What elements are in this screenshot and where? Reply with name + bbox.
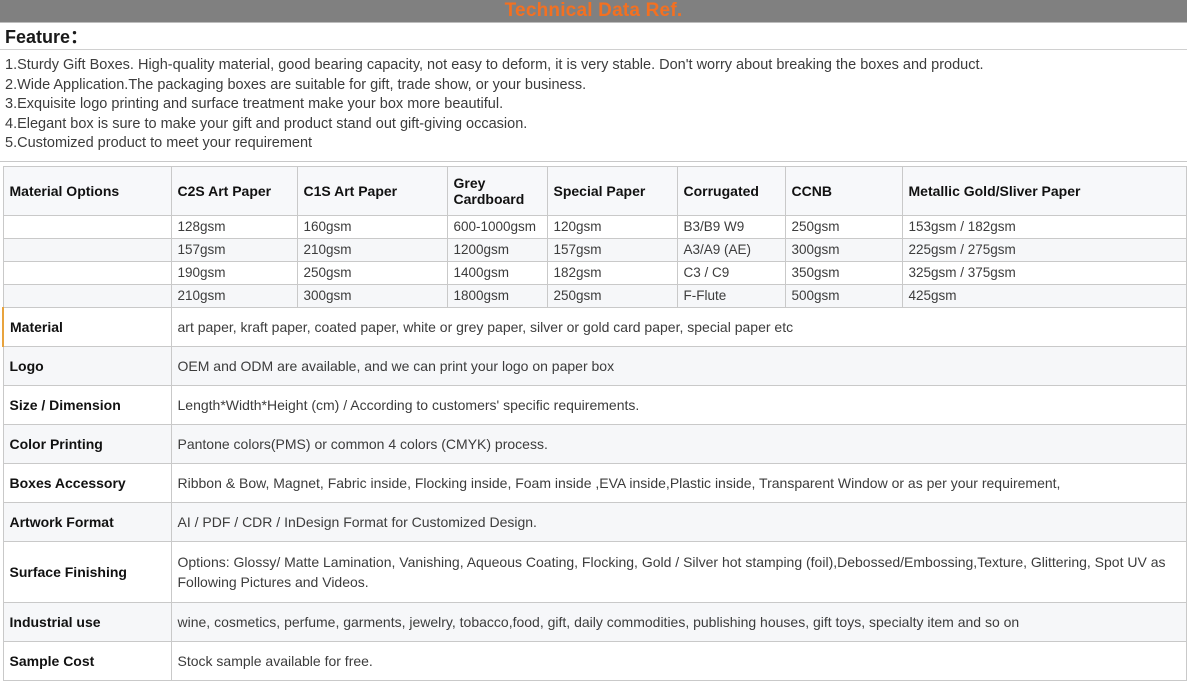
table-header-row: Material Options C2S Art Paper C1S Art P… xyxy=(3,166,1186,215)
column-header-special-paper: Special Paper xyxy=(547,166,677,215)
cell-metallic: 225gsm / 275gsm xyxy=(902,238,1186,261)
cell-c2s: 157gsm xyxy=(171,238,297,261)
row-label-artwork-format: Artwork Format xyxy=(3,502,171,541)
cell-corrugated: A3/A9 (AE) xyxy=(677,238,785,261)
cell-ccnb: 500gsm xyxy=(785,284,902,307)
cell-special: 182gsm xyxy=(547,261,677,284)
cell-grey: 600-1000gsm xyxy=(447,215,547,238)
table-row-size-dimension: Size / Dimension Length*Width*Height (cm… xyxy=(3,385,1186,424)
row-value-sample-cost: Stock sample available for free. xyxy=(171,641,1186,680)
cell-c2s: 128gsm xyxy=(171,215,297,238)
row-label-material: Material xyxy=(3,307,171,346)
row-label-size-dimension: Size / Dimension xyxy=(3,385,171,424)
table-row-logo: Logo OEM and ODM are available, and we c… xyxy=(3,346,1186,385)
table-row: 128gsm 160gsm 600-1000gsm 120gsm B3/B9 W… xyxy=(3,215,1186,238)
cell-c1s: 300gsm xyxy=(297,284,447,307)
row-label-boxes-accessory: Boxes Accessory xyxy=(3,463,171,502)
row-value-surface-finishing: Options: Glossy/ Matte Lamination, Vanis… xyxy=(171,541,1186,602)
table-row-boxes-accessory: Boxes Accessory Ribbon & Bow, Magnet, Fa… xyxy=(3,463,1186,502)
cell-metallic: 325gsm / 375gsm xyxy=(902,261,1186,284)
row-label-sample-cost: Sample Cost xyxy=(3,641,171,680)
table-row-industrial-use: Industrial use wine, cosmetics, perfume,… xyxy=(3,602,1186,641)
column-header-metallic-gold-sliver-paper: Metallic Gold/Sliver Paper xyxy=(902,166,1186,215)
column-header-c2s-art-paper: C2S Art Paper xyxy=(171,166,297,215)
title-bar: Technical Data Ref. xyxy=(0,0,1187,23)
row-value-boxes-accessory: Ribbon & Bow, Magnet, Fabric inside, Flo… xyxy=(171,463,1186,502)
cell-corrugated: F-Flute xyxy=(677,284,785,307)
cell-c2s: 190gsm xyxy=(171,261,297,284)
feature-list: 1.Sturdy Gift Boxes. High-quality materi… xyxy=(0,50,1187,162)
table-row: 190gsm 250gsm 1400gsm 182gsm C3 / C9 350… xyxy=(3,261,1186,284)
technical-data-sheet: Technical Data Ref. Feature： 1.Sturdy Gi… xyxy=(0,0,1187,620)
table-row-surface-finishing: Surface Finishing Options: Glossy/ Matte… xyxy=(3,541,1186,602)
feature-line: 1.Sturdy Gift Boxes. High-quality materi… xyxy=(5,56,1187,76)
cell-material-options xyxy=(3,238,171,261)
column-header-material-options: Material Options xyxy=(3,166,171,215)
cell-grey: 1800gsm xyxy=(447,284,547,307)
table-header: Material Options C2S Art Paper C1S Art P… xyxy=(3,166,1186,215)
row-value-artwork-format: AI / PDF / CDR / InDesign Format for Cus… xyxy=(171,502,1186,541)
feature-heading: Feature： xyxy=(0,23,1187,50)
feature-line: 3.Exquisite logo printing and surface tr… xyxy=(5,95,1187,115)
feature-line: 5.Customized product to meet your requir… xyxy=(5,134,1187,154)
cell-metallic: 153gsm / 182gsm xyxy=(902,215,1186,238)
table-row-color-printing: Color Printing Pantone colors(PMS) or co… xyxy=(3,424,1186,463)
cell-ccnb: 300gsm xyxy=(785,238,902,261)
feature-heading-label: Feature： xyxy=(5,23,88,49)
cell-ccnb: 350gsm xyxy=(785,261,902,284)
cell-c1s: 210gsm xyxy=(297,238,447,261)
cell-grey: 1200gsm xyxy=(447,238,547,261)
row-value-industrial-use: wine, cosmetics, perfume, garments, jewe… xyxy=(171,602,1186,641)
cell-special: 250gsm xyxy=(547,284,677,307)
cell-corrugated: B3/B9 W9 xyxy=(677,215,785,238)
cell-grey: 1400gsm xyxy=(447,261,547,284)
row-label-logo: Logo xyxy=(3,346,171,385)
table-row-artwork-format: Artwork Format AI / PDF / CDR / InDesign… xyxy=(3,502,1186,541)
table-row: 210gsm 300gsm 1800gsm 250gsm F-Flute 500… xyxy=(3,284,1186,307)
cell-material-options xyxy=(3,284,171,307)
table-row: 157gsm 210gsm 1200gsm 157gsm A3/A9 (AE) … xyxy=(3,238,1186,261)
row-label-surface-finishing: Surface Finishing xyxy=(3,541,171,602)
row-value-logo: OEM and ODM are available, and we can pr… xyxy=(171,346,1186,385)
cell-special: 157gsm xyxy=(547,238,677,261)
cell-c1s: 160gsm xyxy=(297,215,447,238)
row-value-size-dimension: Length*Width*Height (cm) / According to … xyxy=(171,385,1186,424)
row-value-color-printing: Pantone colors(PMS) or common 4 colors (… xyxy=(171,424,1186,463)
feature-line: 2.Wide Application.The packaging boxes a… xyxy=(5,76,1187,96)
cell-c2s: 210gsm xyxy=(171,284,297,307)
specification-table: Material Options C2S Art Paper C1S Art P… xyxy=(2,166,1187,681)
table-row-sample-cost: Sample Cost Stock sample available for f… xyxy=(3,641,1186,680)
column-header-ccnb: CCNB xyxy=(785,166,902,215)
column-header-c1s-art-paper: C1S Art Paper xyxy=(297,166,447,215)
row-value-material: art paper, kraft paper, coated paper, wh… xyxy=(171,307,1186,346)
row-label-industrial-use: Industrial use xyxy=(3,602,171,641)
column-header-corrugated: Corrugated xyxy=(677,166,785,215)
table-row-material: Material art paper, kraft paper, coated … xyxy=(3,307,1186,346)
cell-metallic: 425gsm xyxy=(902,284,1186,307)
cell-material-options xyxy=(3,215,171,238)
cell-corrugated: C3 / C9 xyxy=(677,261,785,284)
cell-special: 120gsm xyxy=(547,215,677,238)
cell-c1s: 250gsm xyxy=(297,261,447,284)
page-title: Technical Data Ref. xyxy=(505,0,683,22)
cell-ccnb: 250gsm xyxy=(785,215,902,238)
row-label-color-printing: Color Printing xyxy=(3,424,171,463)
feature-line: 4.Elegant box is sure to make your gift … xyxy=(5,115,1187,135)
cell-material-options xyxy=(3,261,171,284)
table-body: 128gsm 160gsm 600-1000gsm 120gsm B3/B9 W… xyxy=(3,215,1186,680)
column-header-grey-cardboard: Grey Cardboard xyxy=(447,166,547,215)
